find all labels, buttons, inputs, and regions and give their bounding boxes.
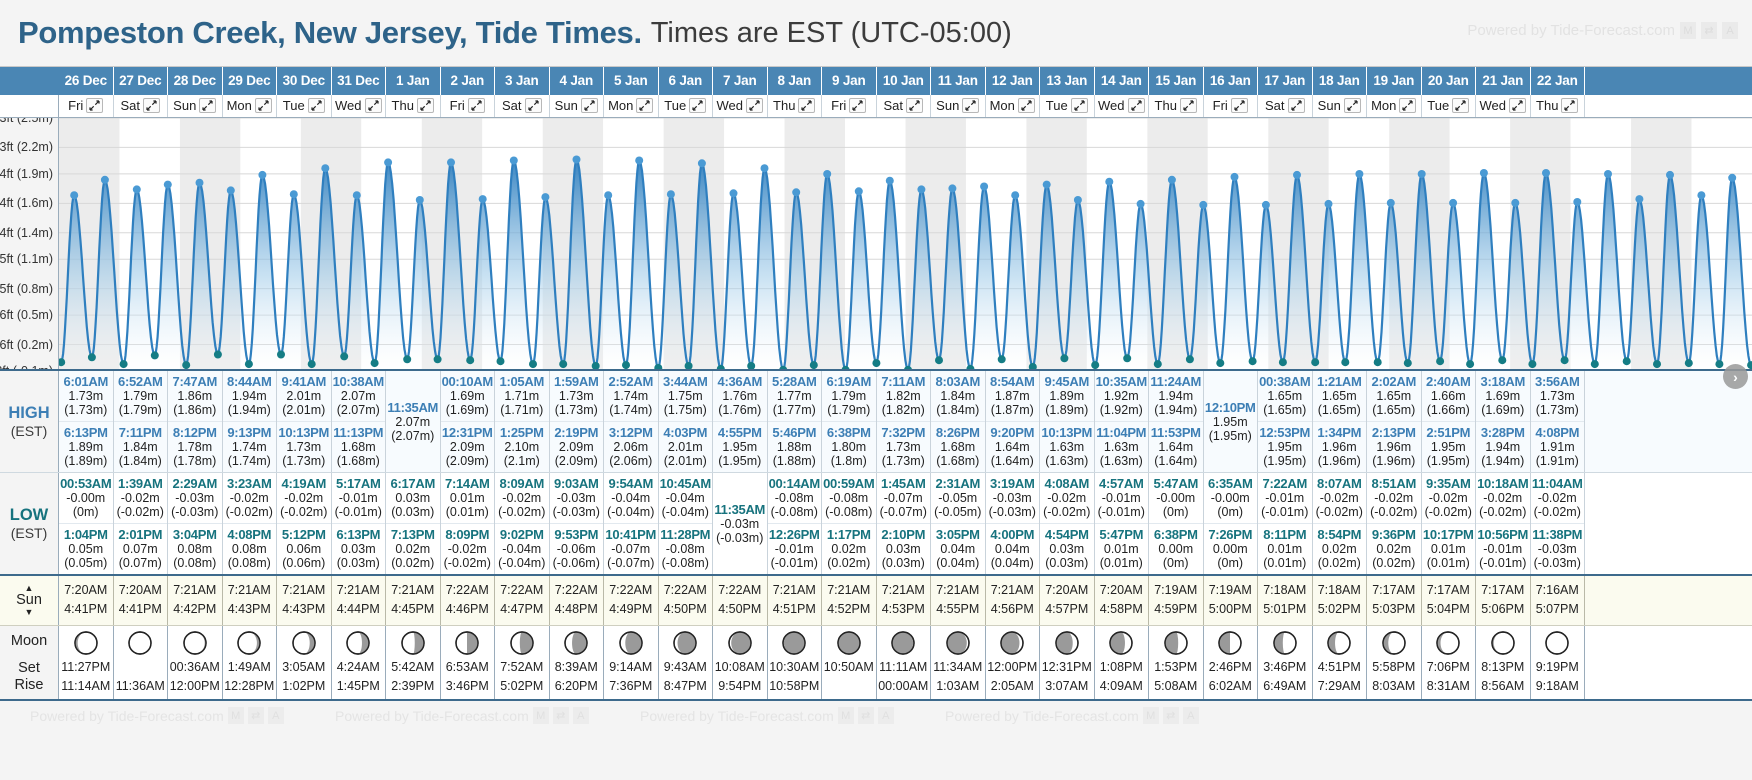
low-time: 9:35AM <box>1422 476 1476 491</box>
high-cell: 3:18AM1.69m(1.69m)3:28PM1.94m(1.94m) <box>1476 371 1531 472</box>
high-tide-entry: 8:44AM1.94m(1.94m) <box>223 371 277 421</box>
high-tide-entry: 5:28AM1.77m(1.77m) <box>768 371 822 421</box>
high-height-alt: (1.64m) <box>1149 454 1203 468</box>
high-height-alt: (1.89m) <box>1040 403 1094 417</box>
expand-icon[interactable] <box>417 98 434 113</box>
expand-icon[interactable] <box>1399 98 1416 113</box>
expand-icon[interactable] <box>746 98 763 113</box>
moon-phase-icon <box>1313 630 1367 656</box>
moon-cell: 10:30AM10:58PM <box>768 626 823 700</box>
high-tide-marker <box>447 158 455 166</box>
high-cell: 7:47AM1.86m(1.86m)8:12PM1.78m(1.78m) <box>168 371 223 472</box>
moon-phase-icon <box>495 630 549 656</box>
weekday-label: Thu <box>773 98 795 113</box>
weekday-label: Mon <box>227 98 252 113</box>
weekday-header-cell: Mon <box>986 95 1041 117</box>
high-tide-entry: 9:45AM1.89m(1.89m) <box>1040 371 1094 421</box>
low-height: -0.01m <box>332 491 386 505</box>
low-time: 2:29AM <box>168 476 222 491</box>
high-time: 2:52AM <box>604 374 658 389</box>
low-tide-entry: 8:07AM-0.02m(-0.02m) <box>1313 473 1367 523</box>
date-header-cell[interactable]: 16 Jan <box>1204 67 1259 95</box>
date-header-cell[interactable]: 9 Jan <box>822 67 877 95</box>
date-header-cell[interactable]: 4 Jan <box>550 67 605 95</box>
date-header-cell[interactable]: 12 Jan <box>986 67 1041 95</box>
low-height: 0.01m <box>1095 542 1149 556</box>
low-height-alt: (0.06m) <box>277 556 331 570</box>
low-height-alt: (-0.02m) <box>1313 505 1367 519</box>
low-time: 00:59AM <box>822 476 876 491</box>
high-height: 1.73m <box>277 440 331 454</box>
low-cell: 10:18AM-0.02m(-0.02m)10:56PM-0.01m(-0.01… <box>1476 473 1531 574</box>
moonset-time: 4:24AM <box>332 658 386 677</box>
high-height-alt: (1.92m) <box>1095 403 1149 417</box>
moonset-time: 8:13PM <box>1476 658 1530 677</box>
sunset-time: 4:57PM <box>1040 600 1094 619</box>
high-height: 2.06m <box>604 440 658 454</box>
tide-curve <box>59 118 1752 369</box>
high-tide-marker <box>1542 169 1550 177</box>
date-header-cell[interactable]: 28 Dec <box>168 67 223 95</box>
moon-phase-icon <box>931 630 985 656</box>
high-time: 7:47AM <box>168 374 222 389</box>
high-tide-entry: 10:13PM1.73m(1.73m) <box>277 421 331 472</box>
expand-icon[interactable] <box>1071 98 1088 113</box>
date-header-cell[interactable]: 21 Jan <box>1476 67 1531 95</box>
high-height: 2.09m <box>441 440 495 454</box>
high-height-alt: (1.73m) <box>1531 403 1585 417</box>
low-height: 0.01m <box>1258 542 1312 556</box>
date-header-cell[interactable]: 7 Jan <box>713 67 768 95</box>
low-tide-marker <box>1216 359 1224 367</box>
moon-cell: 10:50AM <box>822 626 877 700</box>
moonrise-time: 11:36AM <box>114 677 168 696</box>
high-tide-entry: 10:38AM2.07m(2.07m) <box>332 371 386 421</box>
sunrise-time: 7:20AM <box>114 581 168 600</box>
sunset-time: 4:44PM <box>332 600 386 619</box>
expand-icon[interactable] <box>1509 98 1526 113</box>
high-tide-marker <box>1604 170 1612 178</box>
low-cell: 7:14AM0.01m(0.01m)8:09PM-0.02m(-0.02m) <box>441 473 496 574</box>
moonset-time: 00:36AM <box>168 658 222 677</box>
expand-icon[interactable] <box>1018 98 1035 113</box>
weekday-header-cell: Mon <box>223 95 278 117</box>
low-height-alt: (-0.06m) <box>550 556 604 570</box>
date-header-cell[interactable]: 30 Dec <box>277 67 332 95</box>
low-height-alt: (0.05m) <box>59 556 113 570</box>
high-tide-marker <box>1573 198 1581 206</box>
weekday-label: Thu <box>1536 98 1558 113</box>
high-cell: 10:35AM1.92m(1.92m)11:04PM1.63m(1.63m) <box>1095 371 1150 472</box>
date-header-cell[interactable]: 10 Jan <box>877 67 932 95</box>
y-axis-tick-label: 5.4ft (1.6m) <box>0 196 53 210</box>
low-height-alt: (-0.02m) <box>114 505 168 519</box>
weekday-header-cell: Wed <box>1095 95 1150 117</box>
expand-icon[interactable] <box>581 98 598 113</box>
high-tide-entry: 11:04PM1.63m(1.63m) <box>1095 421 1149 472</box>
high-height: 1.73m <box>59 389 113 403</box>
sunrise-time: 7:22AM <box>713 581 767 600</box>
low-height: 0.03m <box>1040 542 1094 556</box>
low-cell: 4:08AM-0.02m(-0.02m)4:54PM0.03m(0.03m) <box>1040 473 1095 574</box>
high-tide-entry: 10:13PM1.63m(1.63m) <box>1040 421 1094 472</box>
low-height: 0.08m <box>223 542 277 556</box>
low-cell: 8:09AM-0.02m(-0.02m)9:02PM-0.04m(-0.04m) <box>495 473 550 574</box>
low-tide-entry: 2:10PM0.03m(0.03m) <box>877 523 931 574</box>
low-height: 0.02m <box>1313 542 1367 556</box>
date-header-cell[interactable]: 14 Jan <box>1095 67 1150 95</box>
expand-icon[interactable] <box>468 98 485 113</box>
low-height: 0.06m <box>277 542 331 556</box>
date-header-cell[interactable]: 19 Jan <box>1367 67 1422 95</box>
low-time: 4:57AM <box>1095 476 1149 491</box>
date-header-cell[interactable]: 22 Jan <box>1531 67 1586 95</box>
high-time: 10:35AM <box>1095 374 1149 389</box>
weekday-header-cell: Tue <box>659 95 714 117</box>
low-cell: 2:31AM-0.05m(-0.05m)3:05PM0.04m(0.04m) <box>931 473 986 574</box>
high-time: 4:36AM <box>713 374 767 389</box>
high-tide-entry: 00:10AM1.69m(1.69m) <box>441 371 495 421</box>
high-height: 1.92m <box>1095 389 1149 403</box>
high-tide-marker <box>321 164 329 172</box>
y-axis-tick-label: 1.6ft (0.5m) <box>0 308 53 322</box>
date-header-cell[interactable]: 8 Jan <box>768 67 823 95</box>
sunset-time: 4:43PM <box>277 600 331 619</box>
footer-watermark-icon-2: ⇄ <box>553 707 569 724</box>
y-axis-tick-label: 3.5ft (1.1m) <box>0 252 53 266</box>
high-height-alt: (1.65m) <box>1367 403 1421 417</box>
low-height-alt: (-0.02m) <box>495 505 549 519</box>
high-tide-marker <box>290 190 298 198</box>
high-tide-entry: 11:53PM1.64m(1.64m) <box>1149 421 1203 472</box>
sun-cell: 7:20AM4:58PM <box>1095 576 1150 625</box>
high-cell: 5:28AM1.77m(1.77m)5:46PM1.88m(1.88m) <box>768 371 823 472</box>
low-tide-marker <box>1374 358 1382 366</box>
low-height: 0.03m <box>386 491 440 505</box>
high-height: 1.84m <box>114 440 168 454</box>
low-time: 6:17AM <box>386 476 440 491</box>
low-tide-entry: 9:54AM-0.04m(-0.04m) <box>604 473 658 523</box>
moon-cell: 4:24AM1:45PM <box>332 626 387 700</box>
y-axis-tick-label: 2.5ft (0.8m) <box>0 282 53 296</box>
low-tide-marker <box>1311 358 1319 366</box>
high-tide-marker <box>1293 171 1301 179</box>
low-height-alt: (-0.04m) <box>659 505 713 519</box>
moon-phase-icon <box>822 630 876 656</box>
low-tide-marker <box>998 355 1006 363</box>
low-height: 0.02m <box>386 542 440 556</box>
moon-phase-icon <box>223 630 277 656</box>
high-tide-entry: 9:13PM1.74m(1.74m) <box>223 421 277 472</box>
sunset-time: 4:50PM <box>659 600 713 619</box>
y-axis-tick-label: 7.3ft (2.2m) <box>0 140 53 154</box>
sunset-time: 4:49PM <box>604 600 658 619</box>
low-height: -0.02m <box>1313 491 1367 505</box>
high-time: 1:25PM <box>495 425 549 440</box>
sun-cell: 7:22AM4:50PM <box>713 576 768 625</box>
low-time: 4:00PM <box>986 527 1040 542</box>
expand-icon[interactable] <box>636 98 653 113</box>
low-time: 9:03AM <box>550 476 604 491</box>
moonset-time: 6:53AM <box>441 658 495 677</box>
footer-watermark-icon-2: ⇄ <box>248 707 264 724</box>
high-height-alt: (1.95m) <box>713 454 767 468</box>
moon-cell: 1:08PM4:09AM <box>1095 626 1150 700</box>
high-time: 10:13PM <box>277 425 331 440</box>
high-tide-marker <box>70 191 78 199</box>
high-height-alt: (1.65m) <box>1313 403 1367 417</box>
high-tide-entry: 12:31PM2.09m(2.09m) <box>441 421 495 472</box>
moon-cell: 3:46PM6:49AM <box>1258 626 1313 700</box>
high-tide-marker <box>1355 170 1363 178</box>
low-height: 0.02m <box>822 542 876 556</box>
expand-icon[interactable] <box>365 98 382 113</box>
expand-icon[interactable] <box>906 98 923 113</box>
low-cell: 8:51AM-0.02m(-0.02m)9:36PM0.02m(0.02m) <box>1367 473 1422 574</box>
scroll-right-handle[interactable]: › <box>1723 364 1748 389</box>
low-time: 9:36PM <box>1367 527 1421 542</box>
low-height-alt: (0m) <box>1204 556 1258 570</box>
moonrise-time: 12:00PM <box>168 677 222 696</box>
low-tide-marker <box>1249 357 1257 365</box>
low-tide-marker <box>1623 357 1631 365</box>
date-header-cell[interactable]: 27 Dec <box>114 67 169 95</box>
low-height-alt: (-0.03m) <box>986 505 1040 519</box>
low-height-alt: (-0.02m) <box>277 505 331 519</box>
moon-phase-icon <box>659 630 713 656</box>
weekday-label: Wed <box>717 98 744 113</box>
expand-icon[interactable] <box>1452 98 1469 113</box>
low-label: LOW <box>10 506 49 525</box>
high-tide-marker <box>917 185 925 193</box>
low-tide-marker <box>214 351 222 359</box>
weekday-label: Sat <box>1265 98 1285 113</box>
high-time: 8:12PM <box>168 425 222 440</box>
low-time: 7:13PM <box>386 527 440 542</box>
moon-cell: 8:13PM8:56AM <box>1476 626 1531 700</box>
date-header-cell[interactable]: 15 Jan <box>1149 67 1204 95</box>
date-header-cell[interactable]: 29 Dec <box>223 67 278 95</box>
weekday-header-cell: Tue <box>277 95 332 117</box>
low-time: 6:13PM <box>332 527 386 542</box>
expand-icon[interactable] <box>199 98 216 113</box>
low-tide-marker <box>1154 360 1162 368</box>
moon-phase-icon <box>550 630 604 656</box>
low-cell: 11:35AM-0.03m(-0.03m) <box>713 473 768 574</box>
low-height: -0.08m <box>659 542 713 556</box>
sun-cell: 7:17AM5:03PM <box>1367 576 1422 625</box>
high-label: HIGH <box>8 404 49 423</box>
expand-icon[interactable] <box>962 98 979 113</box>
footer-watermark-icon-3: A <box>1183 707 1199 724</box>
high-time: 5:46PM <box>768 425 822 440</box>
low-tide-entry: 9:03AM-0.03m(-0.03m) <box>550 473 604 523</box>
date-header-cell[interactable]: 26 Dec <box>59 67 114 95</box>
moon-cell: 10:08AM9:54PM <box>713 626 768 700</box>
expand-icon[interactable] <box>525 98 542 113</box>
high-time: 00:10AM <box>441 374 495 389</box>
moonset-time: 9:43AM <box>659 658 713 677</box>
high-height-alt: (1.95m) <box>1204 429 1258 443</box>
expand-icon[interactable] <box>143 98 160 113</box>
moonset-time: 12:31PM <box>1040 658 1094 677</box>
high-time: 6:38PM <box>822 425 876 440</box>
sunset-time: 4:50PM <box>713 600 767 619</box>
moonset-time: 7:06PM <box>1422 658 1476 677</box>
low-tide-marker <box>88 353 96 361</box>
expand-icon[interactable] <box>1561 98 1578 113</box>
expand-icon[interactable] <box>308 98 325 113</box>
date-row-label <box>0 67 59 95</box>
page-title-timezone: Times are EST (UTC-05:00) <box>651 17 1012 50</box>
sunset-time: 4:58PM <box>1095 600 1149 619</box>
low-height-alt: (0m) <box>1149 556 1203 570</box>
low-time: 12:26PM <box>768 527 822 542</box>
low-height-alt: (0.03m) <box>332 556 386 570</box>
low-time: 9:53PM <box>550 527 604 542</box>
sunrise-time: 7:17AM <box>1367 581 1421 600</box>
weekday-label: Sun <box>173 98 196 113</box>
high-tide-entry: 6:13PM1.89m(1.89m) <box>59 421 113 472</box>
high-tide-marker <box>541 193 549 201</box>
low-height-alt: (0.02m) <box>1367 556 1421 570</box>
sun-cell: 7:22AM4:47PM <box>495 576 550 625</box>
moon-phase-icon <box>168 630 222 656</box>
high-tide-entry: 7:47AM1.86m(1.86m) <box>168 371 222 421</box>
high-tide-marker <box>823 170 831 178</box>
expand-icon[interactable] <box>255 98 272 113</box>
date-header-cell[interactable]: 11 Jan <box>931 67 986 95</box>
expand-icon[interactable] <box>849 98 866 113</box>
high-height-alt: (1.74m) <box>223 454 277 468</box>
weekday-label: Tue <box>664 98 686 113</box>
date-header-cell[interactable]: 6 Jan <box>659 67 714 95</box>
low-tide-entry: 9:36PM0.02m(0.02m) <box>1367 523 1421 574</box>
moonrise-time: 6:49AM <box>1258 677 1312 696</box>
footer-watermark: Powered by Tide-Forecast.comM⇄A <box>335 707 589 724</box>
low-time: 7:14AM <box>441 476 495 491</box>
low-tide-marker <box>497 357 505 365</box>
low-height-alt: (-0.01m) <box>1476 556 1530 570</box>
footer-watermark: Powered by Tide-Forecast.comM⇄A <box>945 707 1199 724</box>
sunrise-time: 7:22AM <box>495 581 549 600</box>
expand-icon[interactable] <box>86 98 103 113</box>
date-header-cell[interactable]: 3 Jan <box>495 67 550 95</box>
expand-icon[interactable] <box>1231 98 1248 113</box>
low-tide-marker <box>1279 358 1287 366</box>
high-tide-marker <box>101 176 109 184</box>
watermark-icon-2: ⇄ <box>1701 22 1717 39</box>
moon-row-label: MoonSetRise <box>0 626 59 700</box>
high-height-alt: (1.73m) <box>277 454 331 468</box>
moon-cell: 11:34AM1:03AM <box>931 626 986 700</box>
high-time: 11:53PM <box>1149 425 1203 440</box>
low-cell: 5:47AM-0.00m(0m)6:38PM0.00m(0m) <box>1149 473 1204 574</box>
date-header-cell[interactable]: 13 Jan <box>1040 67 1095 95</box>
low-time: 3:19AM <box>986 476 1040 491</box>
high-height: 1.76m <box>713 389 767 403</box>
low-time: 8:07AM <box>1313 476 1367 491</box>
high-height: 1.87m <box>986 389 1040 403</box>
high-height: 1.73m <box>1531 389 1585 403</box>
low-height: -0.02m <box>114 491 168 505</box>
low-height: 0.03m <box>332 542 386 556</box>
weekday-label: Sat <box>120 98 140 113</box>
low-tide-entry: 2:01PM0.07m(0.07m) <box>114 523 168 574</box>
high-tide-entry: 10:35AM1.92m(1.92m) <box>1095 371 1149 421</box>
date-header-cell[interactable]: 20 Jan <box>1422 67 1477 95</box>
sunrise-time: 7:21AM <box>386 581 440 600</box>
expand-icon[interactable] <box>1344 98 1361 113</box>
sunset-arrow-icon: ▼ <box>25 608 34 617</box>
high-time: 8:54AM <box>986 374 1040 389</box>
sunset-time: 4:43PM <box>223 600 277 619</box>
weekday-label: Tue <box>1427 98 1449 113</box>
high-height: 1.88m <box>768 440 822 454</box>
date-header-cell[interactable]: 17 Jan <box>1258 67 1313 95</box>
low-height: 0.08m <box>168 542 222 556</box>
low-tide-marker <box>120 360 128 368</box>
low-time: 9:54AM <box>604 476 658 491</box>
high-tide-entry: 2:51PM1.95m(1.95m) <box>1422 421 1476 472</box>
date-header-cell[interactable]: 2 Jan <box>441 67 496 95</box>
low-height-alt: (0m) <box>1204 505 1258 519</box>
low-height-alt: (0.02m) <box>822 556 876 570</box>
high-time: 6:19AM <box>822 374 876 389</box>
high-tide-marker <box>1262 201 1270 209</box>
low-tide-marker <box>1404 359 1412 367</box>
low-tide-entry: 4:19AM-0.02m(-0.02m) <box>277 473 331 523</box>
expand-icon[interactable] <box>689 98 706 113</box>
high-time: 2:40AM <box>1422 374 1476 389</box>
high-tide-marker <box>886 177 894 185</box>
high-tide-entry: 6:38PM1.80m(1.8m) <box>822 421 876 472</box>
high-tide-marker <box>635 157 643 165</box>
date-header-cell[interactable]: 5 Jan <box>604 67 659 95</box>
moon-cell: 11:27PM11:14AM <box>59 626 114 700</box>
date-header-cell[interactable]: 1 Jan <box>386 67 441 95</box>
footer-watermark-icon-3: A <box>268 707 284 724</box>
high-time: 3:28PM <box>1476 425 1530 440</box>
high-height: 1.89m <box>1040 389 1094 403</box>
date-header-cell[interactable]: 18 Jan <box>1313 67 1368 95</box>
high-tide-marker <box>353 191 361 199</box>
expand-icon[interactable] <box>1180 98 1197 113</box>
low-tide-entry: 6:38PM0.00m(0m) <box>1149 523 1203 574</box>
date-header-cell[interactable]: 31 Dec <box>332 67 387 95</box>
date-header-row: 26 Dec27 Dec28 Dec29 Dec30 Dec31 Dec1 Ja… <box>0 67 1752 95</box>
chart-plot-area[interactable] <box>59 118 1752 369</box>
high-tide-marker <box>761 164 769 172</box>
expand-icon[interactable] <box>1288 98 1305 113</box>
moonrise-time: 1:03AM <box>931 677 985 696</box>
sunrise-time: 7:21AM <box>986 581 1040 600</box>
footer-watermark-text: Powered by Tide-Forecast.com <box>30 708 224 724</box>
low-tide-entry: 8:51AM-0.02m(-0.02m) <box>1367 473 1421 523</box>
low-height: -0.02m <box>441 542 495 556</box>
weekday-header-cell: Mon <box>604 95 659 117</box>
high-height: 1.74m <box>604 389 658 403</box>
y-axis-tick-label: 4.4ft (1.4m) <box>0 226 53 240</box>
low-height-alt: (-0.03m) <box>1531 556 1585 570</box>
expand-icon[interactable] <box>1128 98 1145 113</box>
moonrise-time: 7:36PM <box>604 677 658 696</box>
sun-cell: 7:19AM5:00PM <box>1204 576 1259 625</box>
expand-icon[interactable] <box>798 98 815 113</box>
sunrise-time: 7:17AM <box>1476 581 1530 600</box>
sunrise-time: 7:22AM <box>604 581 658 600</box>
moon-phase-icon <box>114 630 168 656</box>
